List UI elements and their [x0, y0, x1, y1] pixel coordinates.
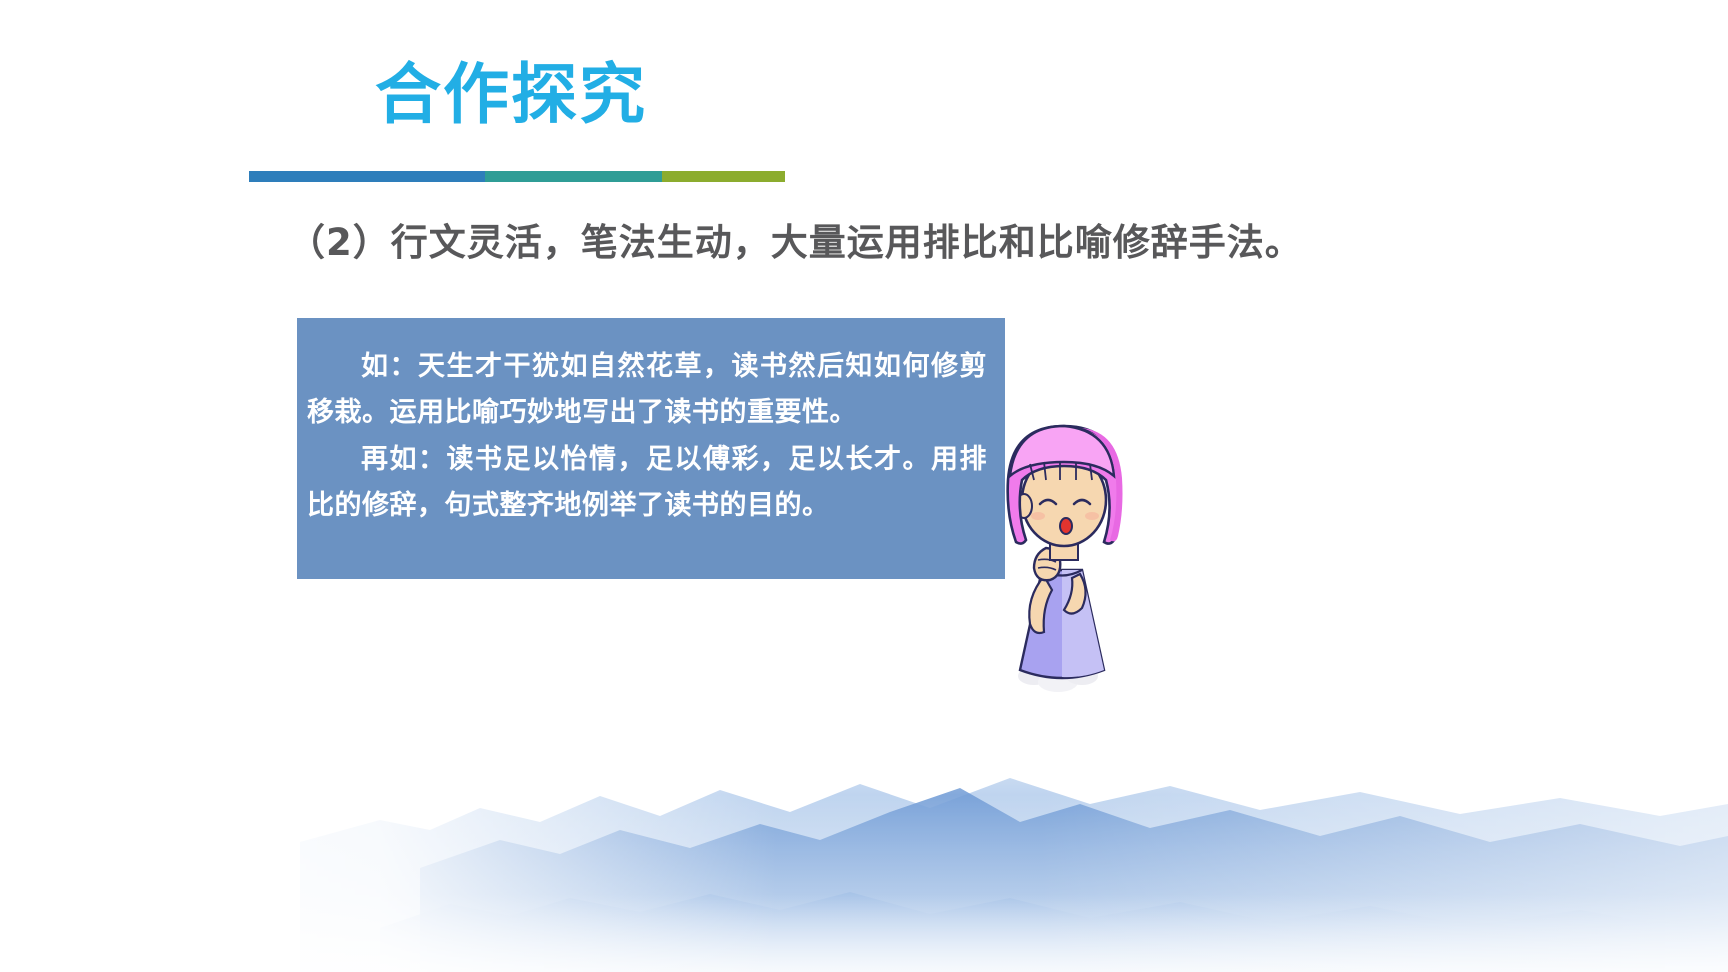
title-divider [249, 171, 785, 182]
divider-segment-olive [662, 171, 785, 182]
ridge-mid [420, 788, 1728, 972]
fade-left [0, 712, 1728, 972]
quote-paragraph-2: 再如：读书足以怡情，足以傅彩，足以长才。用排比的修辞，句式整齐地例举了读书的目的… [307, 437, 987, 530]
example-quote-box: 如：天生才干犹如自然花草，读书然后知如何修剪移栽。运用比喻巧妙地写出了读书的重要… [297, 318, 1005, 579]
mist-overlay [0, 712, 1728, 972]
fade-right [0, 712, 1728, 972]
ridge-near [380, 892, 1728, 972]
divider-segment-teal [485, 171, 662, 182]
divider-segment-blue [249, 171, 485, 182]
ridge-far [300, 778, 1728, 972]
misty-mountain-background [0, 712, 1728, 972]
slide-root: 合作探究 （2）行文灵活，笔法生动，大量运用排比和比喻修辞手法。 如：天生才干犹… [0, 0, 1728, 972]
head [1008, 426, 1123, 546]
thinking-girl-illustration [986, 418, 1138, 693]
body-statement: （2）行文灵活，笔法生动，大量运用排比和比喻修辞手法。 [288, 212, 1303, 266]
page-title: 合作探究 [375, 58, 647, 132]
quote-paragraph-1: 如：天生才干犹如自然花草，读书然后知如何修剪移栽。运用比喻巧妙地写出了读书的重要… [307, 344, 987, 437]
